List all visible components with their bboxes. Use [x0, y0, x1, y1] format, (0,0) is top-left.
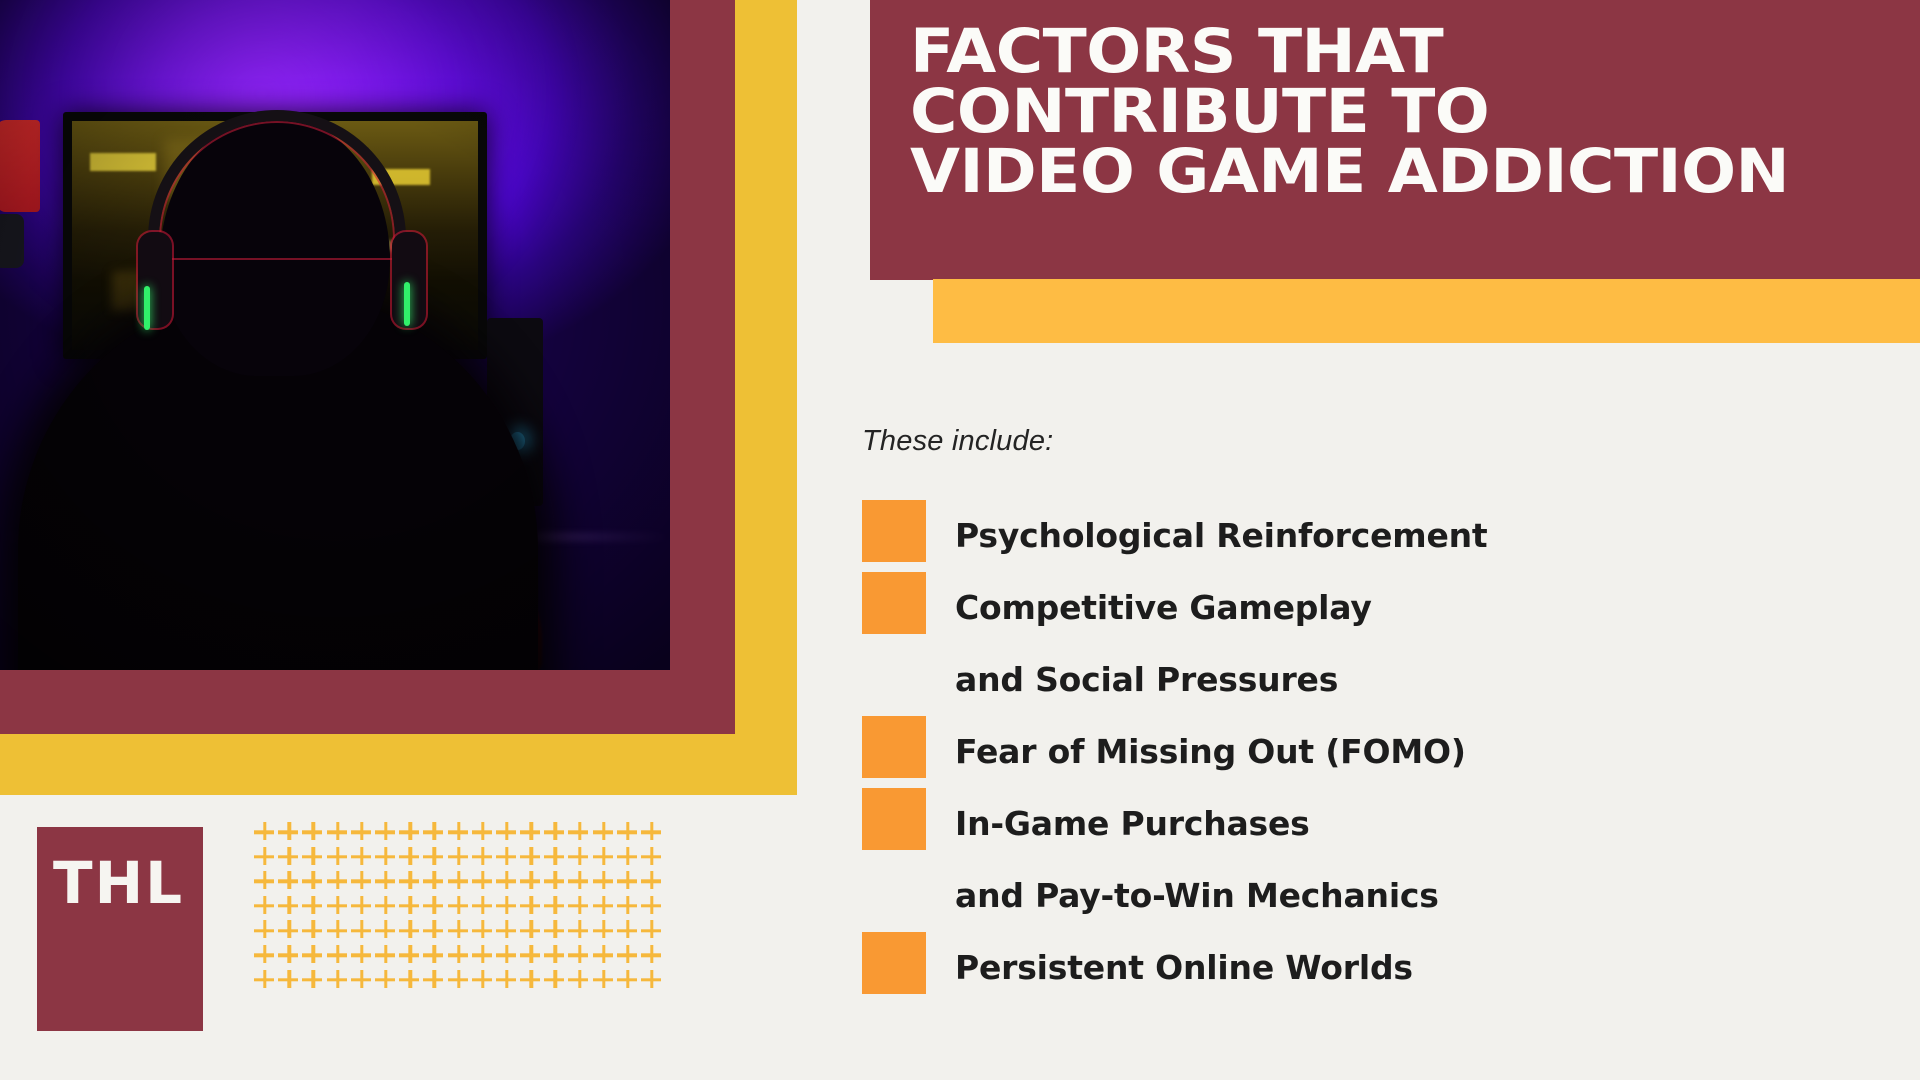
plus-icon — [398, 869, 422, 894]
plus-icon — [471, 820, 495, 845]
plus-icon — [640, 820, 664, 845]
plus-icon — [301, 869, 325, 894]
plus-icon — [422, 820, 446, 845]
plus-icon — [592, 968, 616, 993]
plus-icon — [640, 869, 664, 894]
plus-icon — [616, 869, 640, 894]
plus-icon — [519, 943, 543, 968]
plus-icon — [447, 820, 471, 845]
plus-icon — [519, 968, 543, 993]
plus-icon — [543, 869, 567, 894]
plus-icon — [471, 894, 495, 919]
factors-list: Psychological Reinforcement Competitive … — [862, 500, 1902, 1004]
list-item-label: and Pay-to-Win Mechanics — [955, 860, 1439, 932]
plus-icon — [422, 943, 446, 968]
plus-icon — [471, 943, 495, 968]
plus-icon — [567, 845, 591, 870]
plus-icon — [253, 820, 277, 845]
list-item: In-Game Purchases — [862, 788, 1902, 860]
plus-icon — [495, 968, 519, 993]
plus-icon — [640, 894, 664, 919]
plus-icon — [640, 968, 664, 993]
plus-icon — [350, 845, 374, 870]
plus-icon — [519, 894, 543, 919]
plus-icon — [616, 894, 640, 919]
plus-icon — [326, 968, 350, 993]
plus-icon — [422, 968, 446, 993]
plus-icon — [398, 943, 422, 968]
plus-icon — [640, 845, 664, 870]
plus-icon — [567, 894, 591, 919]
plus-icon — [543, 820, 567, 845]
plus-icon — [543, 943, 567, 968]
bullet-spacer — [862, 644, 926, 706]
plus-icon — [326, 918, 350, 943]
plus-icon — [640, 918, 664, 943]
list-item: Psychological Reinforcement — [862, 500, 1902, 572]
plus-icon — [374, 845, 398, 870]
plus-icon — [471, 845, 495, 870]
plus-icon — [301, 943, 325, 968]
bullet-square-icon — [862, 572, 926, 634]
plus-icon — [495, 869, 519, 894]
plus-icon — [543, 845, 567, 870]
plus-icon — [592, 894, 616, 919]
list-item-label: and Social Pressures — [955, 644, 1338, 716]
plus-icon — [350, 918, 374, 943]
plus-icon — [374, 894, 398, 919]
plus-icon — [567, 918, 591, 943]
plus-icon — [277, 820, 301, 845]
plus-icon — [277, 943, 301, 968]
plus-icon — [326, 820, 350, 845]
plus-icon — [326, 869, 350, 894]
list-item-label: Fear of Missing Out (FOMO) — [955, 716, 1466, 788]
plus-icon — [253, 845, 277, 870]
plus-icon — [447, 869, 471, 894]
title-line-2: CONTRIBUTE TO — [910, 82, 1920, 142]
plus-icon — [592, 943, 616, 968]
plus-icon — [398, 820, 422, 845]
list-item-label: In-Game Purchases — [955, 788, 1310, 860]
plus-icon — [350, 943, 374, 968]
plus-icon — [422, 869, 446, 894]
plus-icon — [543, 918, 567, 943]
plus-icon — [253, 918, 277, 943]
plus-icon — [301, 918, 325, 943]
infographic-slide: FACTORS THAT CONTRIBUTE TO VIDEO GAME AD… — [0, 0, 1920, 1080]
plus-icon — [253, 968, 277, 993]
plus-icon — [301, 968, 325, 993]
plus-icon — [616, 820, 640, 845]
bullet-square-icon — [862, 500, 926, 562]
plus-icon — [422, 845, 446, 870]
page-title: FACTORS THAT CONTRIBUTE TO VIDEO GAME AD… — [910, 22, 1920, 202]
plus-icon — [326, 845, 350, 870]
bullet-square-icon — [862, 932, 926, 994]
plus-icon — [326, 943, 350, 968]
plus-icon — [277, 894, 301, 919]
plus-icon — [616, 968, 640, 993]
plus-icon — [447, 894, 471, 919]
plus-icon — [592, 845, 616, 870]
plus-icon — [277, 918, 301, 943]
title-accent-bar — [933, 279, 1920, 343]
plus-icon — [519, 918, 543, 943]
plus-icon — [301, 894, 325, 919]
plus-icon — [495, 894, 519, 919]
plus-pattern-decoration — [253, 820, 664, 992]
plus-icon — [447, 845, 471, 870]
plus-icon — [567, 869, 591, 894]
bullet-square-icon — [862, 788, 926, 850]
plus-icon — [301, 845, 325, 870]
plus-icon — [422, 918, 446, 943]
list-item-label: Competitive Gameplay — [955, 572, 1372, 644]
bullet-square-icon — [862, 716, 926, 778]
list-item-continuation: and Pay-to-Win Mechanics — [862, 860, 1902, 932]
plus-icon — [447, 918, 471, 943]
list-item: Persistent Online Worlds — [862, 932, 1902, 1004]
title-banner: FACTORS THAT CONTRIBUTE TO VIDEO GAME AD… — [870, 0, 1920, 280]
plus-icon — [350, 968, 374, 993]
plus-icon — [253, 869, 277, 894]
plus-icon — [374, 968, 398, 993]
plus-icon — [398, 894, 422, 919]
plus-icon — [616, 943, 640, 968]
plus-icon — [374, 943, 398, 968]
plus-icon — [350, 820, 374, 845]
plus-icon — [374, 918, 398, 943]
bullet-spacer — [862, 860, 926, 922]
plus-icon — [519, 845, 543, 870]
photo-vignette — [0, 0, 670, 670]
gamer-photo — [0, 0, 670, 670]
list-item-continuation: and Social Pressures — [862, 644, 1902, 716]
thl-logo-label: THL — [53, 854, 184, 912]
thl-logo[interactable]: THL — [37, 827, 203, 1031]
plus-icon — [398, 845, 422, 870]
plus-icon — [374, 869, 398, 894]
plus-icon — [398, 968, 422, 993]
plus-icon — [543, 894, 567, 919]
plus-icon — [422, 894, 446, 919]
plus-icon — [519, 869, 543, 894]
plus-icon — [640, 943, 664, 968]
title-line-3: VIDEO GAME ADDICTION — [910, 142, 1920, 202]
plus-icon — [592, 820, 616, 845]
plus-icon — [253, 943, 277, 968]
intro-text: These include: — [862, 425, 1053, 458]
plus-icon — [519, 820, 543, 845]
plus-icon — [495, 845, 519, 870]
plus-icon — [495, 943, 519, 968]
plus-icon — [592, 918, 616, 943]
plus-icon — [543, 968, 567, 993]
plus-icon — [567, 943, 591, 968]
plus-icon — [277, 968, 301, 993]
list-item: Competitive Gameplay — [862, 572, 1902, 644]
plus-icon — [592, 869, 616, 894]
plus-icon — [277, 845, 301, 870]
plus-icon — [495, 820, 519, 845]
title-line-1: FACTORS THAT — [910, 22, 1920, 82]
plus-icon — [277, 869, 301, 894]
list-item-label: Persistent Online Worlds — [955, 932, 1413, 1004]
plus-icon — [326, 894, 350, 919]
plus-icon — [471, 869, 495, 894]
plus-icon — [301, 820, 325, 845]
list-item-label: Psychological Reinforcement — [955, 500, 1488, 572]
plus-icon — [616, 918, 640, 943]
plus-icon — [471, 918, 495, 943]
plus-icon — [447, 968, 471, 993]
plus-icon — [398, 918, 422, 943]
plus-icon — [374, 820, 398, 845]
plus-icon — [567, 968, 591, 993]
plus-icon — [616, 845, 640, 870]
plus-icon — [471, 968, 495, 993]
list-item: Fear of Missing Out (FOMO) — [862, 716, 1902, 788]
plus-icon — [350, 894, 374, 919]
plus-icon — [447, 943, 471, 968]
plus-icon — [495, 918, 519, 943]
plus-icon — [567, 820, 591, 845]
plus-icon — [350, 869, 374, 894]
plus-icon — [253, 894, 277, 919]
